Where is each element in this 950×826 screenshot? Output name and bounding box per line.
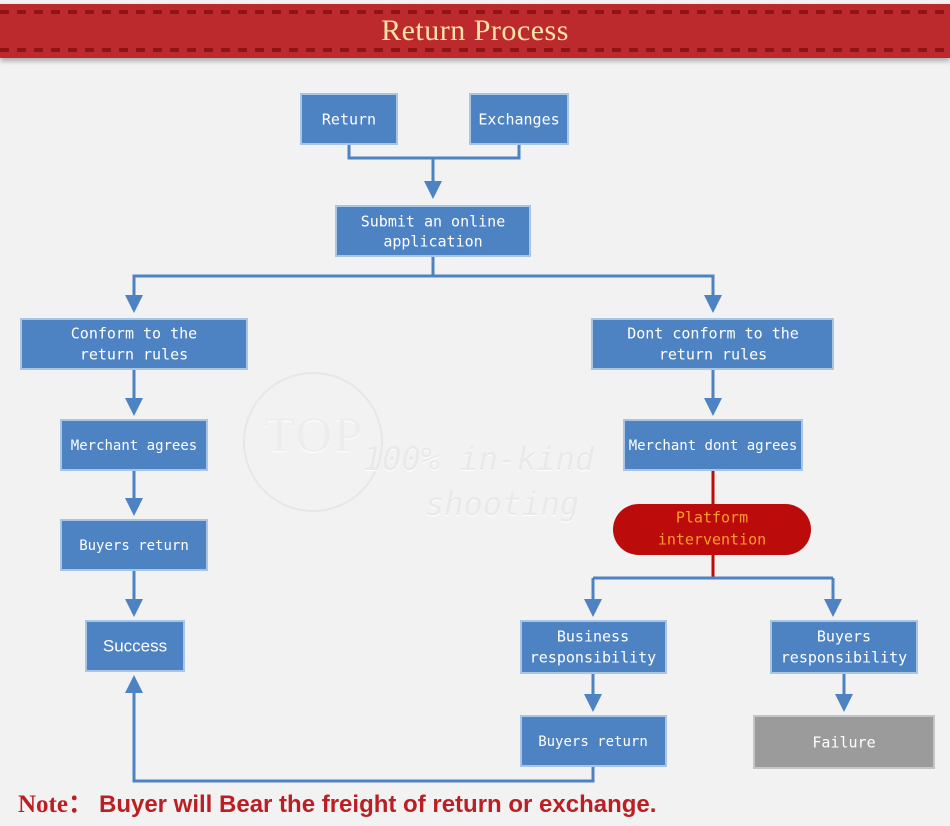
node-submit-label-line2: application [383, 233, 482, 251]
node-buyers-return-left-label: Buyers return [79, 538, 189, 554]
node-platform-label-line2: intervention [658, 531, 766, 549]
flowchart-canvas: Return Exchanges Submit an online applic… [0, 0, 950, 826]
edge-business-resp-to-buyers-return [584, 673, 602, 712]
node-platform-label-line1: Platform [676, 509, 748, 527]
edge-return-to-submit [349, 144, 442, 199]
node-buyers-return-bottom[interactable]: Buyers return [521, 716, 666, 766]
edge-conform-to-merchant-agrees [125, 369, 143, 416]
node-platform-intervention[interactable]: Platform intervention [613, 504, 811, 555]
note-label: Note： [18, 791, 93, 818]
edge-submit-to-branches [125, 256, 722, 313]
node-submit-label-line1: Submit an online [361, 213, 506, 231]
node-success[interactable]: Success [86, 621, 184, 671]
edge-platform-to-responsibilities [584, 553, 842, 617]
node-return-label: Return [322, 111, 376, 129]
node-buyers-return-bottom-label: Buyers return [538, 734, 648, 750]
node-exchanges-label: Exchanges [478, 111, 559, 129]
node-success-label: Success [103, 636, 167, 655]
node-submit[interactable]: Submit an online application [336, 206, 530, 256]
edge-exchanges-to-submit [433, 144, 519, 158]
node-buyers-resp-label-line1: Buyers [817, 628, 871, 646]
node-conform[interactable]: Conform to the return rules [21, 319, 247, 369]
node-dont-conform[interactable]: Dont conform to the return rules [592, 319, 833, 369]
node-buyers-resp-label-line2: responsibility [781, 649, 907, 667]
node-dont-conform-label-line1: Dont conform to the [627, 325, 799, 343]
node-failure[interactable]: Failure [754, 716, 934, 768]
node-merchant-dont-agrees[interactable]: Merchant dont agrees [624, 420, 802, 470]
node-exchanges[interactable]: Exchanges [470, 94, 568, 144]
note-body: Buyer will Bear the freight of return or… [99, 791, 656, 818]
edge-merchant-agrees-to-buyers-return [125, 470, 143, 516]
node-business-resp-label-line2: responsibility [530, 649, 656, 667]
return-process-infographic: Return Process TOP 100% in-kind shooting [0, 0, 950, 826]
node-merchant-agrees[interactable]: Merchant agrees [61, 420, 207, 470]
node-dont-conform-label-line2: return rules [659, 346, 767, 364]
node-business-resp-label-line1: Business [557, 628, 629, 646]
node-conform-label-line1: Conform to the [71, 325, 197, 343]
node-failure-label: Failure [812, 734, 875, 752]
edge-buyers-return-to-success [125, 570, 143, 617]
node-buyers-responsibility[interactable]: Buyers responsibility [771, 621, 917, 673]
node-return[interactable]: Return [301, 94, 397, 144]
footer-note: Note：Buyer will Bear the freight of retu… [18, 784, 656, 820]
node-conform-label-line2: return rules [80, 346, 188, 364]
node-merchant-dont-agrees-label: Merchant dont agrees [629, 438, 798, 454]
node-business-responsibility[interactable]: Business responsibility [521, 621, 666, 673]
node-merchant-agrees-label: Merchant agrees [71, 438, 197, 454]
node-buyers-return-left[interactable]: Buyers return [61, 520, 207, 570]
edge-buyers-resp-to-failure [835, 673, 853, 712]
edge-dont-conform-to-merchant-dont-agrees [704, 369, 722, 416]
